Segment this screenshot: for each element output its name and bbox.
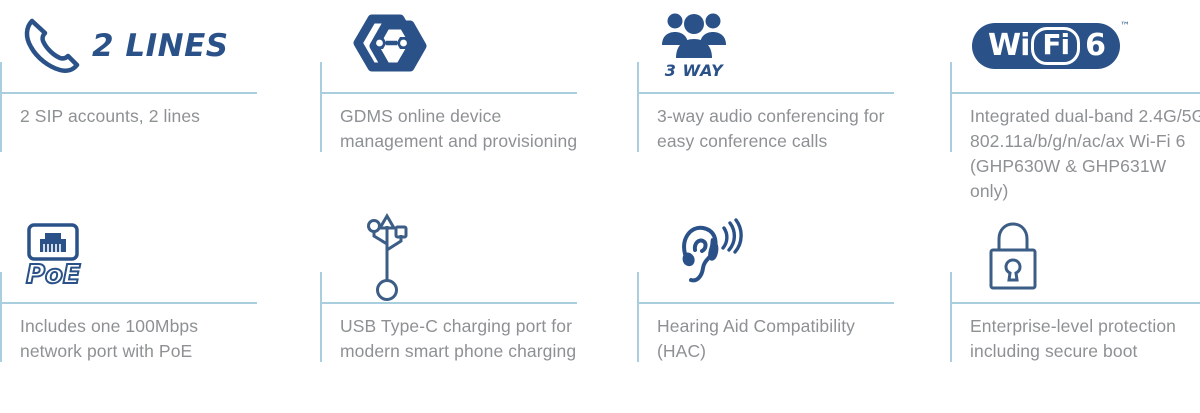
vertical-divider [0, 272, 2, 362]
feature-caption: 3-way audio conferencing for easy confer… [657, 104, 897, 154]
wifi-logo-wi-text: Wi [988, 31, 1029, 61]
rj45-poe-port-icon [26, 222, 80, 262]
icon-container [342, 0, 532, 92]
horizontal-divider [950, 302, 1200, 304]
icon-container: PoE [26, 210, 216, 302]
feature-caption: 2 SIP accounts, 2 lines [20, 104, 260, 129]
wifi-logo-fi-text: Fi [1031, 27, 1080, 65]
feature-caption: Hearing Aid Compatibility (HAC) [657, 314, 897, 364]
horizontal-divider [950, 92, 1200, 94]
horizontal-divider [320, 92, 577, 94]
feature-caption: USB Type-C charging port for modern smar… [340, 314, 580, 364]
feature-card-poe: PoE Includes one 100Mbps network port wi… [0, 210, 320, 413]
horizontal-divider [637, 302, 894, 304]
feature-card-gdms: GDMS online device management and provis… [320, 0, 637, 210]
vertical-divider [320, 62, 322, 152]
vertical-divider [637, 62, 639, 152]
horizontal-divider [0, 92, 257, 94]
poe-wordmark: PoE [26, 262, 81, 289]
three-way-wordmark: 3 WAY [665, 61, 723, 80]
feature-caption: Integrated dual-band 2.4G/5G 802.11a/b/g… [970, 104, 1200, 204]
feature-grid: 2 LINES 2 SIP accounts, 2 lines [0, 0, 1200, 413]
gdms-hexagon-nodes-icon [342, 13, 440, 79]
two-lines-wordmark: 2 LINES [92, 28, 229, 64]
feature-card-hearing-aid: Hearing Aid Compatibility (HAC) [637, 210, 950, 413]
vertical-divider [950, 62, 952, 152]
horizontal-divider [0, 302, 257, 304]
vertical-divider [320, 272, 322, 362]
usb-trident-icon [360, 210, 414, 302]
feature-card-three-way: 3 WAY 3-way audio conferencing for easy … [637, 0, 950, 210]
feature-caption: Enterprise-level protection including se… [970, 314, 1200, 364]
feature-card-two-lines: 2 LINES 2 SIP accounts, 2 lines [0, 0, 320, 210]
wifi-logo-six-text: 6 [1085, 31, 1106, 61]
feature-card-usb-type-c: USB Type-C charging port for modern smar… [320, 210, 637, 413]
icon-container [986, 210, 1176, 302]
vertical-divider [0, 62, 2, 152]
padlock-icon [986, 220, 1040, 292]
feature-caption: Includes one 100Mbps network port with P… [20, 314, 260, 364]
feature-caption: GDMS online device management and provis… [340, 104, 580, 154]
vertical-divider [950, 272, 952, 362]
trademark-icon: ™ [1120, 21, 1130, 32]
feature-card-wifi6: Wi Fi 6 ™ Integrated dual-band 2.4G/5G 8… [950, 0, 1200, 210]
wifi-6-logo-icon: Wi Fi 6 ™ [972, 23, 1120, 69]
icon-container: Wi Fi 6 ™ [972, 0, 1162, 92]
icon-container: 2 LINES [22, 0, 212, 92]
horizontal-divider [637, 92, 894, 94]
horizontal-divider [320, 302, 577, 304]
three-people-conference-icon [659, 12, 729, 60]
ear-hearing-aid-icon [673, 218, 745, 294]
icon-container: 3 WAY [659, 0, 849, 92]
vertical-divider [637, 272, 639, 362]
icon-container [360, 210, 550, 302]
feature-card-secure-boot: Enterprise-level protection including se… [950, 210, 1200, 413]
phone-handset-icon [22, 15, 88, 77]
icon-container [673, 210, 863, 302]
